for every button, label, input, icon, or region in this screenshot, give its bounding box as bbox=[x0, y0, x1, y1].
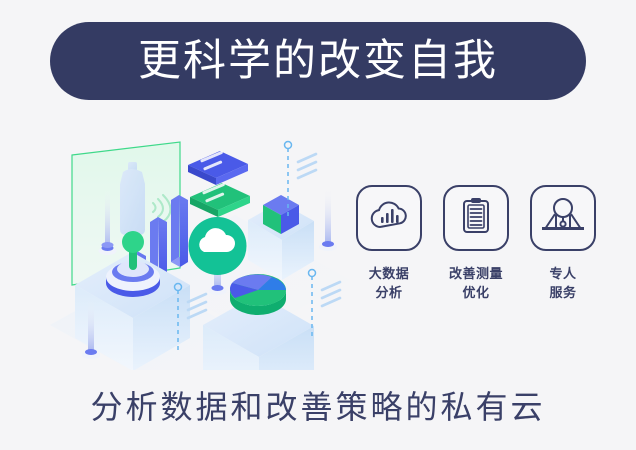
feature-item-support: 专人 服务 bbox=[526, 185, 600, 303]
feature-label-line1: 专人 bbox=[549, 266, 576, 281]
feature-item-measurement: 改善测量 优化 bbox=[439, 185, 513, 303]
gradient-pin-right bbox=[319, 188, 337, 251]
feature-label-line1: 改善测量 bbox=[449, 266, 503, 281]
feature-icon-box bbox=[443, 185, 509, 251]
footer-tagline: 分析数据和改善策略的私有云 bbox=[0, 382, 636, 428]
blue-tag-card bbox=[188, 151, 248, 185]
feature-label-line2: 服务 bbox=[549, 284, 576, 303]
feature-label-line2: 优化 bbox=[449, 284, 503, 303]
pie-chart bbox=[230, 274, 286, 315]
hero-illustration bbox=[20, 120, 360, 370]
feature-label-measurement: 改善测量 优化 bbox=[449, 265, 503, 303]
support-person-icon bbox=[542, 197, 584, 240]
page-title: 更科学的改变自我 bbox=[138, 40, 498, 83]
feature-label-support: 专人 服务 bbox=[549, 265, 576, 303]
feature-icon-box bbox=[356, 185, 422, 251]
green-tag-card bbox=[190, 183, 250, 217]
feature-list: 大数据 分析 bbox=[352, 185, 600, 303]
header-pill-banner: 更科学的改变自我 bbox=[50, 22, 586, 100]
feature-label-line1: 大数据 bbox=[369, 266, 410, 281]
feature-label-big-data: 大数据 分析 bbox=[369, 265, 410, 303]
poster-canvas: 更科学的改变自我 bbox=[0, 0, 636, 450]
feature-icon-box bbox=[530, 185, 596, 251]
clipboard-icon bbox=[460, 197, 492, 240]
tag-card-group bbox=[188, 151, 250, 217]
feature-label-line2: 分析 bbox=[369, 284, 410, 303]
bottle-silhouette bbox=[120, 162, 145, 235]
cloud-bar-chart-icon bbox=[369, 200, 409, 237]
feature-item-big-data: 大数据 分析 bbox=[352, 185, 426, 303]
